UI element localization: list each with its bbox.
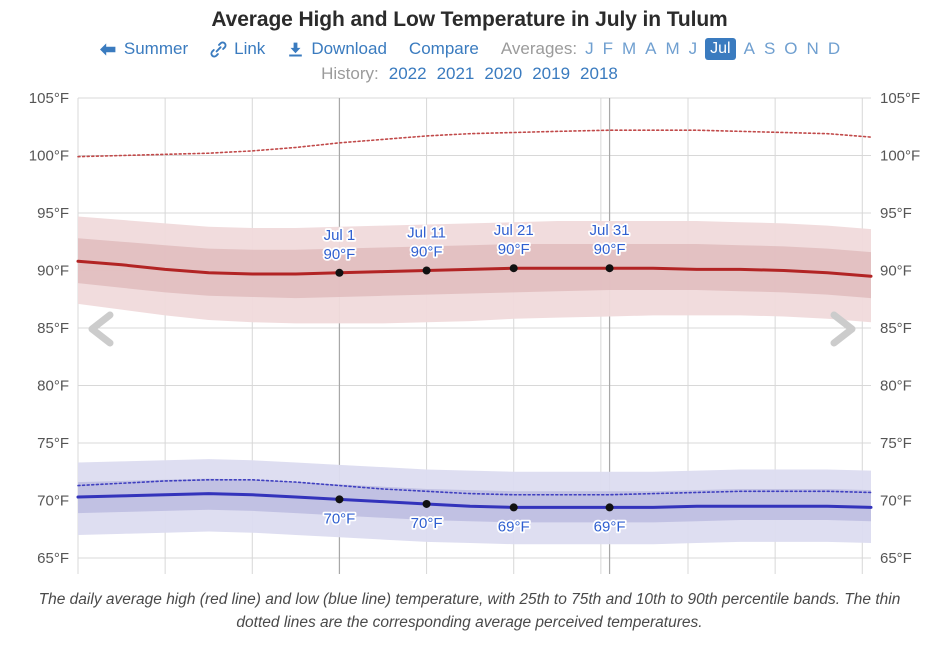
month-chip-current[interactable]: Jul xyxy=(705,38,735,60)
annotation-date: Jul 11 xyxy=(407,225,446,242)
y-tick-left: 70°F xyxy=(37,493,69,510)
y-tick-left: 100°F xyxy=(29,148,69,165)
annotation-value: 90°F xyxy=(411,244,443,261)
data-point-marker[interactable] xyxy=(606,503,614,511)
annotation-value: 90°F xyxy=(323,246,355,263)
month-chip-7[interactable]: A xyxy=(743,39,756,59)
back-to-summer-label: Summer xyxy=(124,39,188,59)
data-point-marker[interactable] xyxy=(606,264,614,272)
month-chip-5[interactable]: J xyxy=(688,39,699,59)
y-tick-right: 95°F xyxy=(880,205,912,222)
data-point-marker[interactable] xyxy=(335,495,343,503)
data-point-marker[interactable] xyxy=(423,267,431,275)
data-point-marker[interactable] xyxy=(510,264,518,272)
history-row: History: 20222021202020192018 xyxy=(0,64,939,84)
annotation-value: 70°F xyxy=(411,515,443,532)
y-tick-right: 90°F xyxy=(880,263,912,280)
annotation-date: Jul 1 xyxy=(324,227,356,244)
y-tick-right: 85°F xyxy=(880,320,912,337)
back-to-summer-button[interactable]: Summer xyxy=(98,39,188,59)
data-point-marker[interactable] xyxy=(335,269,343,277)
month-chip-11[interactable]: D xyxy=(827,39,841,59)
history-year-list: 20222021202020192018 xyxy=(389,64,618,84)
y-tick-right: 105°F xyxy=(880,90,920,107)
month-chip-0[interactable]: J xyxy=(584,39,595,59)
month-chip-8[interactable]: S xyxy=(763,39,776,59)
download-label: Download xyxy=(311,39,387,59)
y-tick-right: 100°F xyxy=(880,148,920,165)
link-button[interactable]: Link xyxy=(210,39,265,59)
y-tick-left: 80°F xyxy=(37,378,69,395)
history-year-2022[interactable]: 2022 xyxy=(389,64,427,84)
history-year-2021[interactable]: 2021 xyxy=(437,64,475,84)
compare-button[interactable]: Compare xyxy=(409,39,479,59)
y-tick-left: 105°F xyxy=(29,90,69,107)
history-year-2019[interactable]: 2019 xyxy=(532,64,570,84)
annotation-value: 69°F xyxy=(498,518,530,535)
y-tick-left: 85°F xyxy=(37,320,69,337)
y-tick-right: 70°F xyxy=(880,493,912,510)
y-tick-left: 90°F xyxy=(37,263,69,280)
annotation-value: 70°F xyxy=(323,510,355,527)
annotation-date: Jul 21 xyxy=(494,222,534,239)
data-point-marker[interactable] xyxy=(510,503,518,511)
y-tick-left: 95°F xyxy=(37,205,69,222)
averages-label: Averages: xyxy=(501,39,577,59)
month-chip-10[interactable]: N xyxy=(806,39,820,59)
y-tick-left: 65°F xyxy=(37,550,69,567)
arrow-left-icon xyxy=(98,42,117,57)
month-chip-3[interactable]: A xyxy=(644,39,657,59)
chart-toolbar: Summer Link Downloa xyxy=(0,38,939,60)
page-title: Average High and Low Temperature in July… xyxy=(0,0,939,32)
download-button[interactable]: Download xyxy=(287,39,387,59)
month-list: JFMAMJJulASOND xyxy=(584,38,841,60)
data-point-marker[interactable] xyxy=(423,500,431,508)
annotation-value: 69°F xyxy=(594,518,626,535)
averages-month-selector: Averages: JFMAMJJulASOND xyxy=(501,38,841,60)
annotation-value: 90°F xyxy=(594,241,626,258)
compare-label: Compare xyxy=(409,39,479,59)
link-icon xyxy=(210,41,227,58)
month-chip-1[interactable]: F xyxy=(602,39,614,59)
month-chip-2[interactable]: M xyxy=(621,39,637,59)
y-tick-right: 65°F xyxy=(880,550,912,567)
y-tick-right: 80°F xyxy=(880,378,912,395)
annotation-value: 90°F xyxy=(498,241,530,258)
y-tick-left: 75°F xyxy=(37,435,69,452)
temperature-chart: 65°F65°F70°F70°F75°F75°F80°F80°F85°F85°F… xyxy=(0,86,939,586)
weather-chart-page: Average High and Low Temperature in July… xyxy=(0,0,939,668)
download-icon xyxy=(287,41,304,58)
chart-canvas: 65°F65°F70°F70°F75°F75°F80°F80°F85°F85°F… xyxy=(0,86,939,586)
annotation-date: Jul 31 xyxy=(590,222,630,239)
chart-caption: The daily average high (red line) and lo… xyxy=(0,588,939,635)
month-chip-9[interactable]: O xyxy=(783,39,798,59)
month-chip-4[interactable]: M xyxy=(664,39,680,59)
y-tick-right: 75°F xyxy=(880,435,912,452)
history-year-2018[interactable]: 2018 xyxy=(580,64,618,84)
history-year-2020[interactable]: 2020 xyxy=(484,64,522,84)
link-label: Link xyxy=(234,39,265,59)
history-label: History: xyxy=(321,64,379,84)
